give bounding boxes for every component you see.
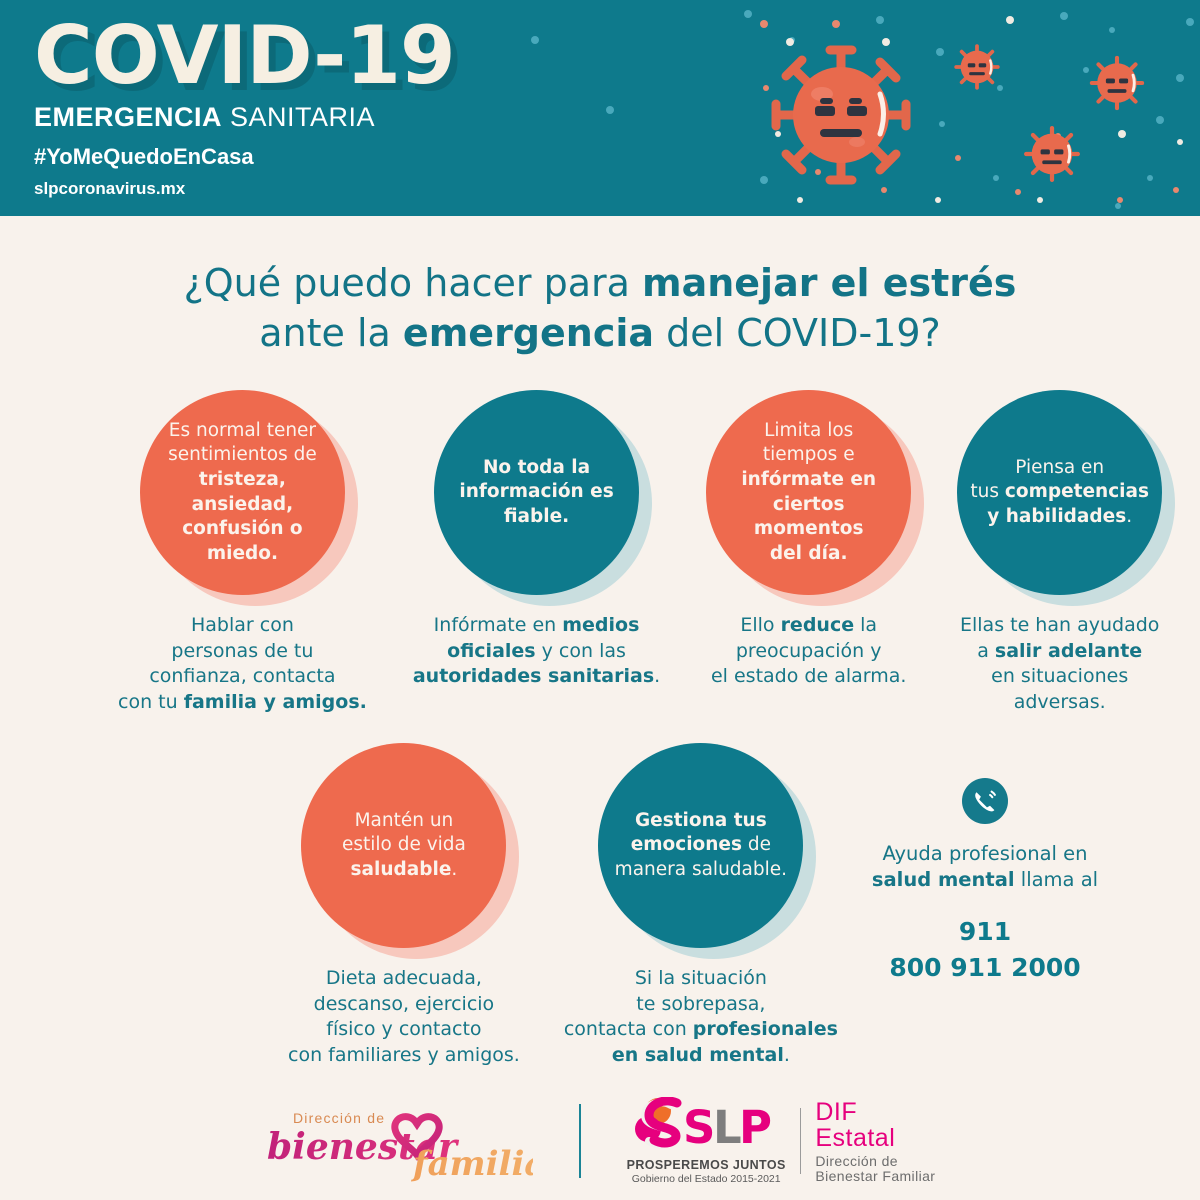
advice-circle[interactable]: Mantén unestilo de vidasaludable.	[301, 743, 506, 948]
help-description: Ayuda profesional en salud mental llama …	[840, 841, 1130, 894]
main-question-heading: ¿Qué puedo hacer para manejar el estrés …	[0, 258, 1200, 358]
dif-line-4: Bienestar Familiar	[815, 1169, 935, 1184]
advice-card: No toda lainformación esfiable.Infórmate…	[413, 390, 660, 716]
advice-circle[interactable]: Gestiona tusemociones demanera saludable…	[598, 743, 803, 948]
advice-caption: Ello reduce lapreocupación yel estado de…	[711, 613, 906, 690]
advice-card: Gestiona tusemociones demanera saludable…	[564, 743, 838, 1069]
advice-circle-text: Es normal tenersentimientos detristeza, …	[150, 419, 335, 567]
page-footer: Dirección de bienestar familiar S L P PR…	[0, 1082, 1200, 1200]
heading-line-2: ante la emergencia del COVID-19?	[0, 308, 1200, 358]
svg-text:P: P	[739, 1101, 772, 1151]
advice-circle-text: No toda lainformación esfiable.	[459, 456, 613, 530]
advice-card: Piensa entus competenciasy habilidades.E…	[957, 390, 1162, 716]
advice-circle-wrap: Limita lostiempos einfórmate enciertos m…	[706, 390, 911, 595]
dif-line-3: Dirección de	[815, 1154, 935, 1169]
hashtag-label: #YoMeQuedoEnCasa	[34, 144, 455, 170]
heading-line-1: ¿Qué puedo hacer para manejar el estrés	[0, 258, 1200, 308]
advice-circle-text: Piensa entus competenciasy habilidades.	[970, 456, 1149, 530]
advice-caption: Hablar conpersonas de tuconfianza, conta…	[118, 613, 367, 716]
help-line-1: Ayuda profesional en	[840, 841, 1130, 867]
advice-circle-wrap: No toda lainformación esfiable.	[434, 390, 639, 595]
advice-circle-wrap: Gestiona tusemociones demanera saludable…	[598, 743, 803, 948]
emergency-number-800[interactable]: 800 911 2000	[840, 950, 1130, 986]
advice-cards-row-1: Es normal tenersentimientos detristeza, …	[118, 390, 1162, 716]
emergency-numbers: 911 800 911 2000	[840, 914, 1130, 987]
advice-cards-row-2: Mantén unestilo de vidasaludable.Dieta a…	[288, 743, 838, 1069]
advice-circle[interactable]: Es normal tenersentimientos detristeza, …	[140, 390, 345, 595]
advice-circle-wrap: Mantén unestilo de vidasaludable.	[301, 743, 506, 948]
advice-caption: Dieta adecuada,descanso, ejerciciofísico…	[288, 966, 520, 1069]
advice-circle-text: Mantén unestilo de vidasaludable.	[342, 809, 466, 883]
slp-mark: S L P	[631, 1097, 781, 1151]
dif-line-1: DIF	[815, 1099, 935, 1125]
website-link[interactable]: slpcoronavirus.mx	[34, 179, 455, 199]
virus-icon-small-3	[1016, 118, 1088, 190]
advice-circle[interactable]: Piensa entus competenciasy habilidades.	[957, 390, 1162, 595]
help-line-2: salud mental llama al	[840, 867, 1130, 893]
advice-circle[interactable]: Limita lostiempos einfórmate enciertos m…	[706, 390, 911, 595]
slp-dif-separator	[800, 1108, 802, 1174]
professional-help-block: Ayuda profesional en salud mental llama …	[840, 778, 1130, 986]
virus-icon-large	[756, 30, 926, 200]
bienestar-familiar-logo: Dirección de bienestar familiar	[265, 1101, 533, 1181]
advice-caption: Si la situaciónte sobrepasa,contacta con…	[564, 966, 838, 1069]
header-subtitle: EMERGENCIA SANITARIA	[34, 102, 455, 133]
advice-caption: Ellas te han ayudadoa salir adelanteen s…	[960, 613, 1159, 716]
advice-circle-text: Gestiona tusemociones demanera saludable…	[615, 809, 787, 883]
page-header: COVID-19 EMERGENCIA SANITARIA #YoMeQuedo…	[0, 0, 1200, 216]
slp-tagline: PROSPEREMOS JUNTOS	[627, 1158, 786, 1172]
advice-circle-wrap: Es normal tenersentimientos detristeza, …	[140, 390, 345, 595]
advice-circle[interactable]: No toda lainformación esfiable.	[434, 390, 639, 595]
svg-text:S: S	[683, 1101, 715, 1151]
advice-card: Mantén unestilo de vidasaludable.Dieta a…	[288, 743, 520, 1069]
virus-icon-small-1	[948, 38, 1006, 96]
svg-text:L: L	[713, 1101, 742, 1151]
header-subtitle-bold: EMERGENCIA	[34, 102, 222, 132]
footer-divider	[579, 1104, 581, 1178]
emergency-number-911[interactable]: 911	[840, 914, 1130, 950]
advice-caption: Infórmate en mediosoficiales y con lasau…	[413, 613, 660, 690]
page-title: COVID-19	[34, 18, 455, 94]
advice-card: Es normal tenersentimientos detristeza, …	[118, 390, 367, 716]
virus-icon-small-2	[1082, 48, 1152, 118]
slp-subtagline: Gobierno del Estado 2015-2021	[627, 1173, 786, 1185]
header-subtitle-light: SANITARIA	[230, 102, 375, 132]
bienestar-kicker: Dirección de	[293, 1110, 385, 1126]
phone-call-icon[interactable]	[962, 778, 1008, 829]
advice-card: Limita lostiempos einfórmate enciertos m…	[706, 390, 911, 716]
advice-circle-text: Limita lostiempos einfórmate enciertos m…	[716, 419, 901, 567]
slp-dif-logo: S L P PROSPEREMOS JUNTOS Gobierno del Es…	[627, 1097, 936, 1185]
familiar-word: familiar	[411, 1144, 533, 1183]
advice-circle-wrap: Piensa entus competenciasy habilidades.	[957, 390, 1162, 595]
dif-line-2: Estatal	[815, 1125, 935, 1151]
